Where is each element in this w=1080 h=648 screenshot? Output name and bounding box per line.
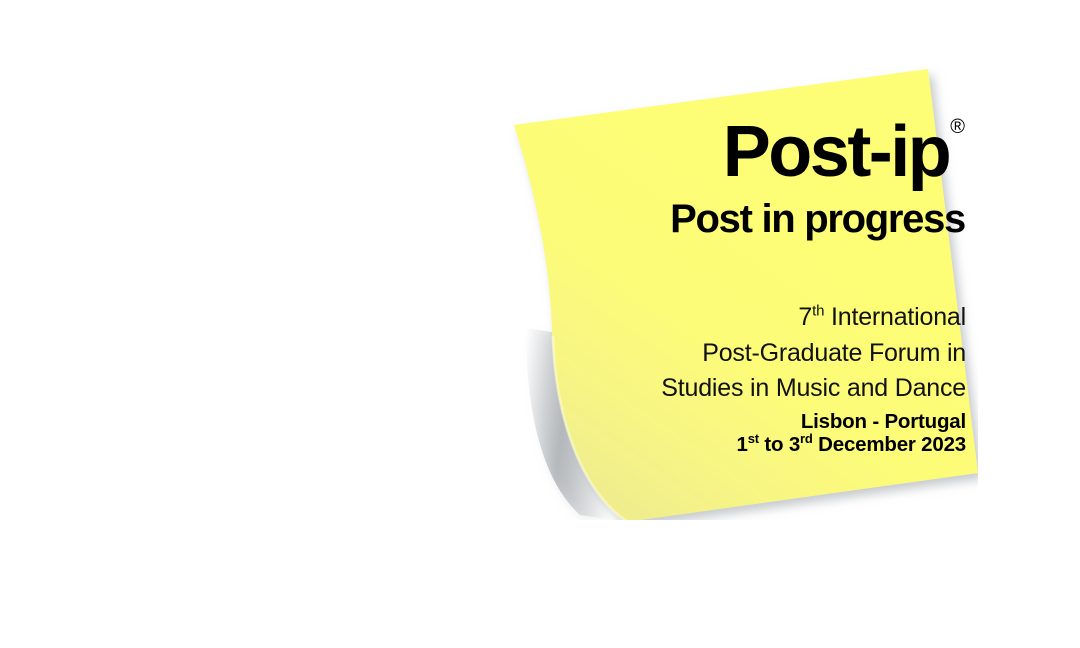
brand-title-text: Post-ip xyxy=(723,112,949,192)
date-end-number: 3 xyxy=(789,433,800,456)
date-start-suffix: st xyxy=(748,431,759,446)
event-title-line-1: 7th International xyxy=(536,300,966,336)
event-title-line-3: Studies in Music and Dance xyxy=(536,371,966,407)
sticky-note: Post-ip® Post in progress 7th Internatio… xyxy=(508,60,978,520)
event-ordinal-suffix: th xyxy=(812,303,824,320)
venue-location: Lisbon - Portugal xyxy=(536,410,966,433)
date-end-suffix: rd xyxy=(800,431,813,446)
date-joiner: to xyxy=(759,433,789,456)
venue-dates: 1st to 3rd December 2023 xyxy=(536,433,966,456)
event-title-line-2: Post-Graduate Forum in xyxy=(536,336,966,372)
brand-title: Post-ip® xyxy=(723,116,964,188)
event-title-block: 7th International Post-Graduate Forum in… xyxy=(536,300,966,407)
event-ordinal-number: 7 xyxy=(798,303,812,331)
event-line-1-rest: International xyxy=(824,303,966,331)
poster-canvas: Post-ip® Post in progress 7th Internatio… xyxy=(0,0,1080,648)
venue-block: Lisbon - Portugal 1st to 3rd December 20… xyxy=(536,410,966,456)
brand-tagline: Post in progress xyxy=(670,199,965,239)
registered-trademark-icon: ® xyxy=(950,116,965,138)
date-month-year: December 2023 xyxy=(813,433,966,456)
date-start-number: 1 xyxy=(737,433,748,456)
